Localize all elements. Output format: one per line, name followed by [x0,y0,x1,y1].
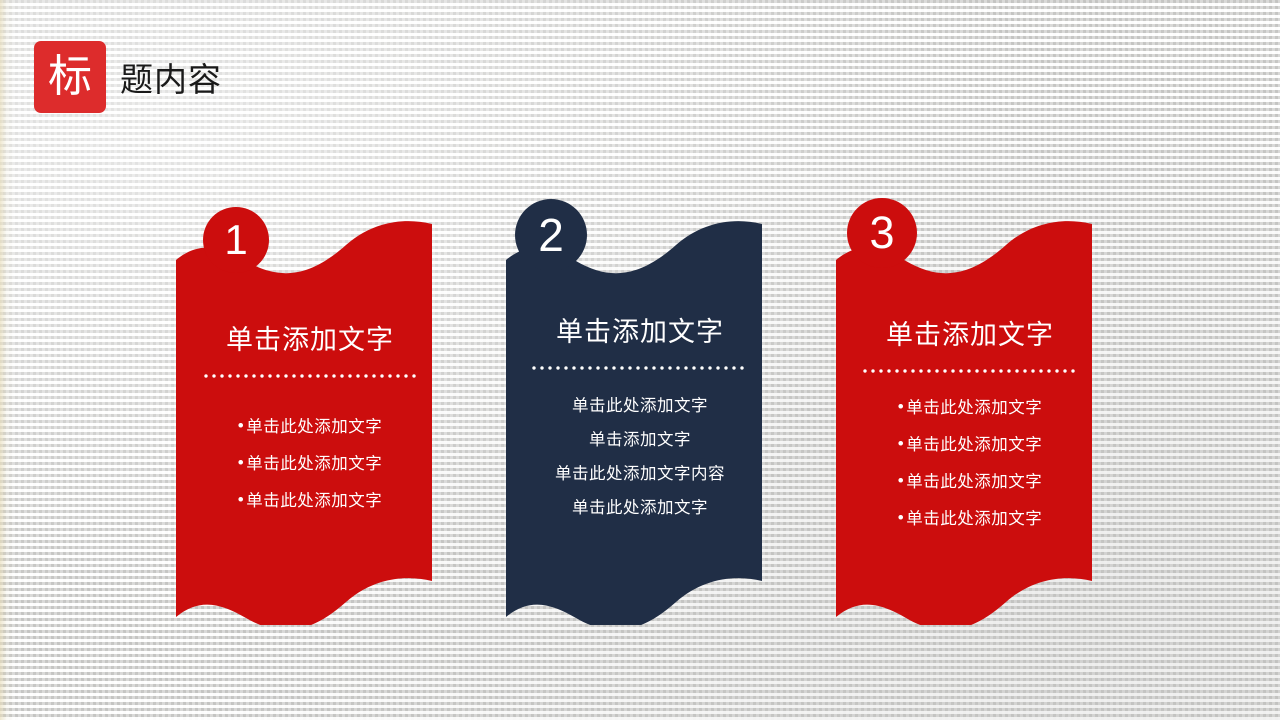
content-card-2[interactable]: 2 单击添加文字 单击此处添加文字 单击添加文字 单击此处添加文字内容 单击此处… [490,185,790,625]
list-item[interactable]: 单击此处添加文字 [820,463,1120,500]
card-list-3: 单击此处添加文字 单击此处添加文字 单击此处添加文字 单击此处添加文字 [820,389,1120,537]
card-divider-1 [204,374,416,378]
list-item[interactable]: 单击添加文字 [490,423,790,457]
page-title: 题内容 [120,53,222,101]
card-number-badge-2: 2 [515,199,587,271]
list-item[interactable]: 单击此处添加文字 [160,408,460,445]
list-item[interactable]: 单击此处添加文字 [490,491,790,525]
list-item[interactable]: 单击此处添加文字 [160,482,460,519]
list-item[interactable]: 单击此处添加文字 [820,426,1120,463]
card-number-badge-1: 1 [203,207,269,273]
title-badge: 标 [34,41,106,113]
card-divider-2 [532,366,748,370]
list-item[interactable]: 单击此处添加文字 [490,389,790,423]
card-list-2: 单击此处添加文字 单击添加文字 单击此处添加文字内容 单击此处添加文字 [490,389,790,525]
card-title-2: 单击添加文字 [490,315,790,349]
card-divider-3 [863,369,1077,373]
list-item[interactable]: 单击此处添加文字内容 [490,457,790,491]
list-item[interactable]: 单击此处添加文字 [160,445,460,482]
content-card-1[interactable]: 1 单击添加文字 单击此处添加文字 单击此处添加文字 单击此处添加文字 [160,185,460,625]
card-content-1: 单击添加文字 单击此处添加文字 单击此处添加文字 单击此处添加文字 [160,323,460,519]
card-content-3: 单击添加文字 单击此处添加文字 单击此处添加文字 单击此处添加文字 单击此处添加… [820,318,1120,537]
card-title-3: 单击添加文字 [820,318,1120,352]
slide-header: 标 题内容 [34,41,222,113]
card-list-1: 单击此处添加文字 单击此处添加文字 单击此处添加文字 [160,408,460,519]
list-item[interactable]: 单击此处添加文字 [820,389,1120,426]
card-content-2: 单击添加文字 单击此处添加文字 单击添加文字 单击此处添加文字内容 单击此处添加… [490,315,790,525]
card-title-1: 单击添加文字 [160,323,460,357]
card-number-badge-3: 3 [847,198,917,268]
content-card-3[interactable]: 3 单击添加文字 单击此处添加文字 单击此处添加文字 单击此处添加文字 单击此处… [820,185,1120,625]
list-item[interactable]: 单击此处添加文字 [820,500,1120,537]
